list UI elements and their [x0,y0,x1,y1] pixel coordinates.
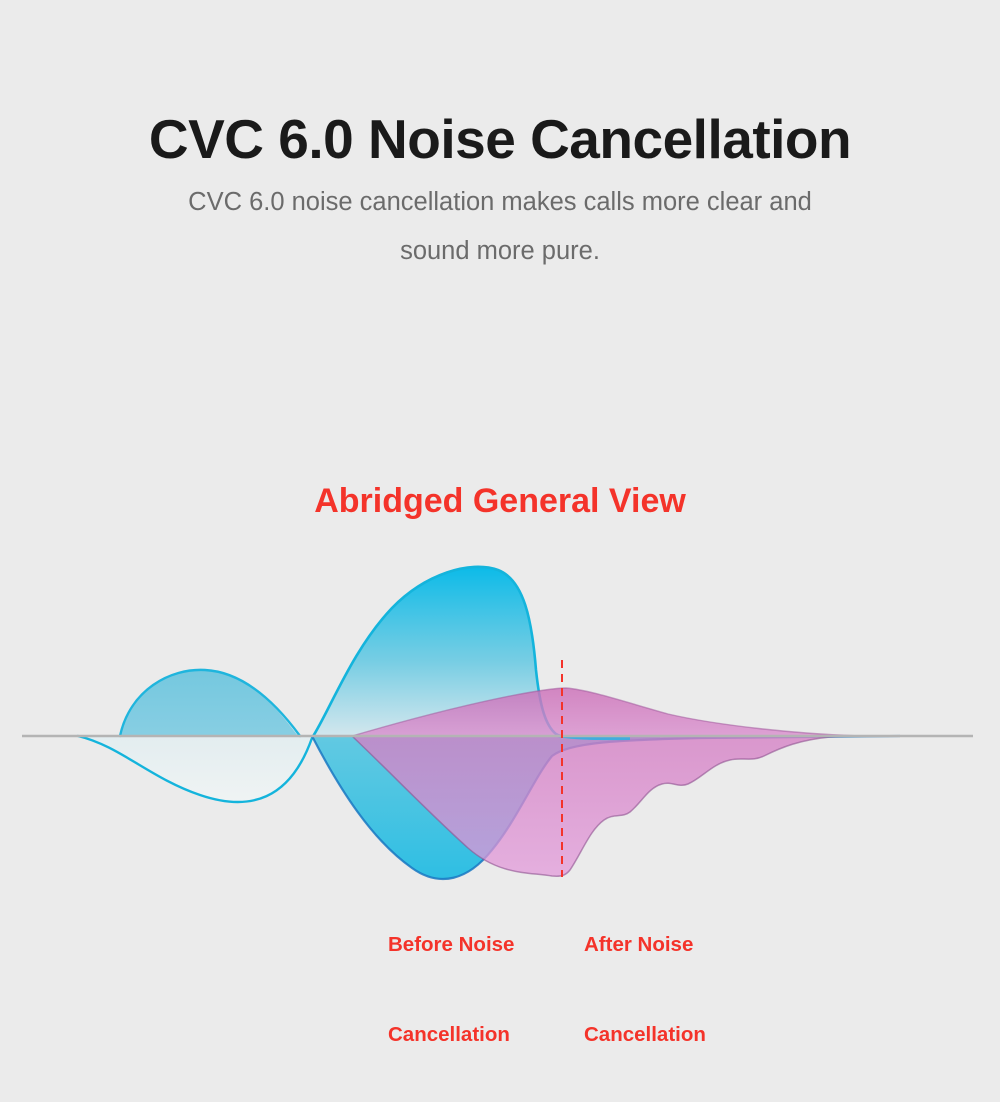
caption-after-noise-cancellation: After Noise Cancellation [584,877,764,1102]
caption-before-noise-cancellation: Before Noise Cancellation [388,877,558,1102]
waveform-figure [0,550,1000,890]
page-subtitle: CVC 6.0 noise cancellation makes calls m… [150,178,850,276]
caption-after-line-2: Cancellation [584,1012,764,1057]
series-before-left-positive [120,670,300,736]
caption-before-line-1: Before Noise [388,922,558,967]
subtitle-line-1: CVC 6.0 noise cancellation makes calls m… [188,188,812,216]
caption-before-line-2: Cancellation [388,1012,558,1057]
subtitle-line-2: sound more pure. [400,237,600,265]
section-heading: Abridged General View [0,480,1000,522]
page-title: CVC 6.0 Noise Cancellation [0,108,1000,170]
waveform-svg [0,550,1000,890]
series-before-left-negative [78,736,312,802]
caption-after-line-1: After Noise [584,922,764,967]
page-root: CVC 6.0 Noise Cancellation CVC 6.0 noise… [0,0,1000,1000]
